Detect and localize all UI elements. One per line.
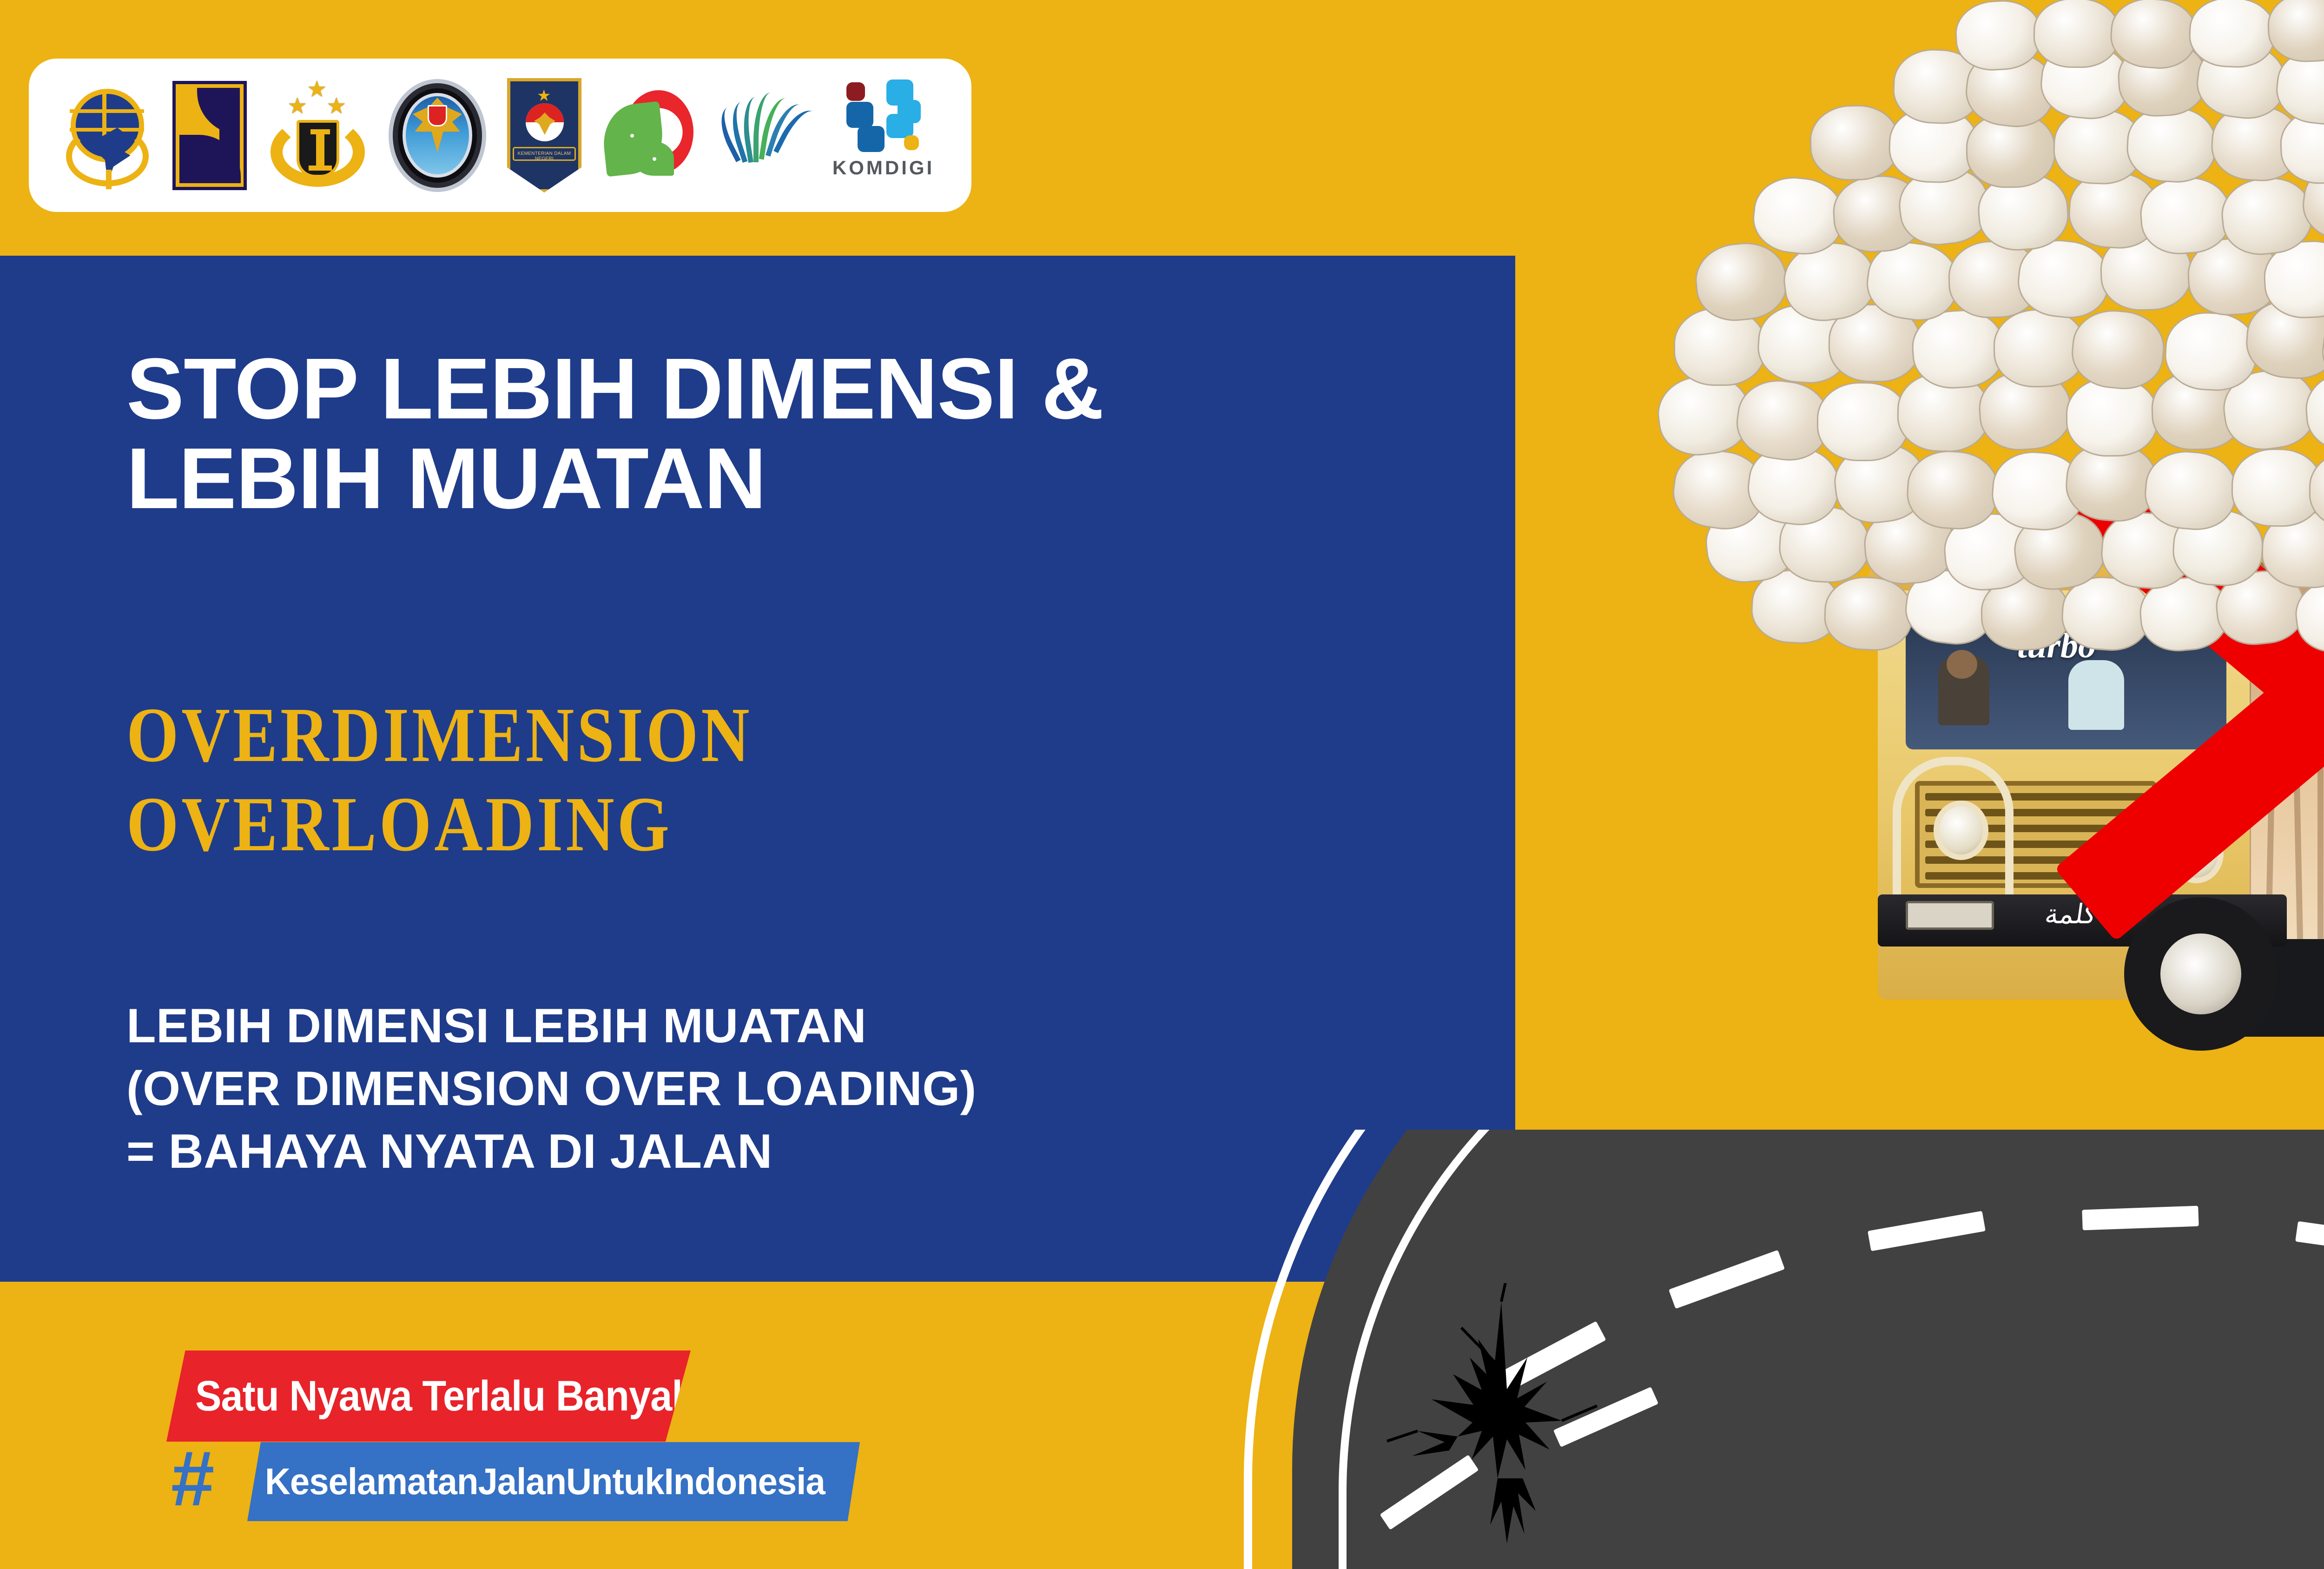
- headlamp-left: [1934, 801, 1988, 860]
- body-line-3: = BAHAYA NYATA DI JALAN: [126, 1120, 977, 1183]
- padi-logo: [716, 83, 809, 188]
- poster-canvas: ★★★ ★ KEMENTERIAN DALAM NEGERI: [0, 0, 2324, 1569]
- polri-logo: ★★★: [268, 77, 368, 193]
- headline-line-1: STOP LEBIH DIMENSI &: [126, 344, 1428, 434]
- cracked-asphalt-icon: [1362, 1283, 1664, 1567]
- driver-head: [1947, 650, 1977, 679]
- body-line-1: LEBIH DIMENSI LEBIH MUATAN: [126, 995, 977, 1058]
- subheadline-line-2: OVERLOADING: [126, 780, 753, 869]
- komdigi-wordmark: KOMDIGI: [832, 157, 934, 179]
- body-message: LEBIH DIMENSI LEBIH MUATAN (OVER DIMENSI…: [126, 995, 977, 1184]
- kemendagri-logo: ★ KEMENTERIAN DALAM NEGERI: [507, 77, 581, 193]
- hashtag-text: KeselamatanJalanUntukIndonesia: [265, 1460, 825, 1503]
- license-plate: [1906, 901, 1994, 930]
- government-logo-bar: ★★★ ★ KEMENTERIAN DALAM NEGERI: [29, 59, 971, 212]
- gear-leaf-logo: [602, 86, 695, 185]
- headline-line-2: LEBIH MUATAN: [126, 434, 1428, 523]
- tagline-text: Satu Nyawa Terlalu Banyak: [195, 1372, 693, 1421]
- kemenko-infrastruktur-logo: [389, 77, 486, 193]
- page-title: STOP LEBIH DIMENSI & LEBIH MUATAN: [126, 344, 1428, 524]
- hash-symbol-icon: #: [171, 1439, 214, 1517]
- subheadline: OVERDIMENSION OVERLOADING: [126, 691, 753, 869]
- komdigi-logo: KOMDIGI: [830, 79, 937, 191]
- body-line-2: (OVER DIMENSION OVER LOADING): [126, 1058, 977, 1120]
- hashtag-banner: KeselamatanJalanUntukIndonesia: [247, 1442, 860, 1521]
- kementerian-pu-logo: [172, 81, 247, 190]
- kemenhub-logo: [63, 83, 152, 188]
- sack-load-stack: [1608, 0, 2324, 716]
- tagline-banner: Satu Nyawa Terlalu Banyak: [166, 1351, 691, 1442]
- kemendagri-ribbon-text: KEMENTERIAN DALAM NEGERI: [514, 151, 574, 161]
- subheadline-line-1: OVERDIMENSION: [126, 691, 753, 780]
